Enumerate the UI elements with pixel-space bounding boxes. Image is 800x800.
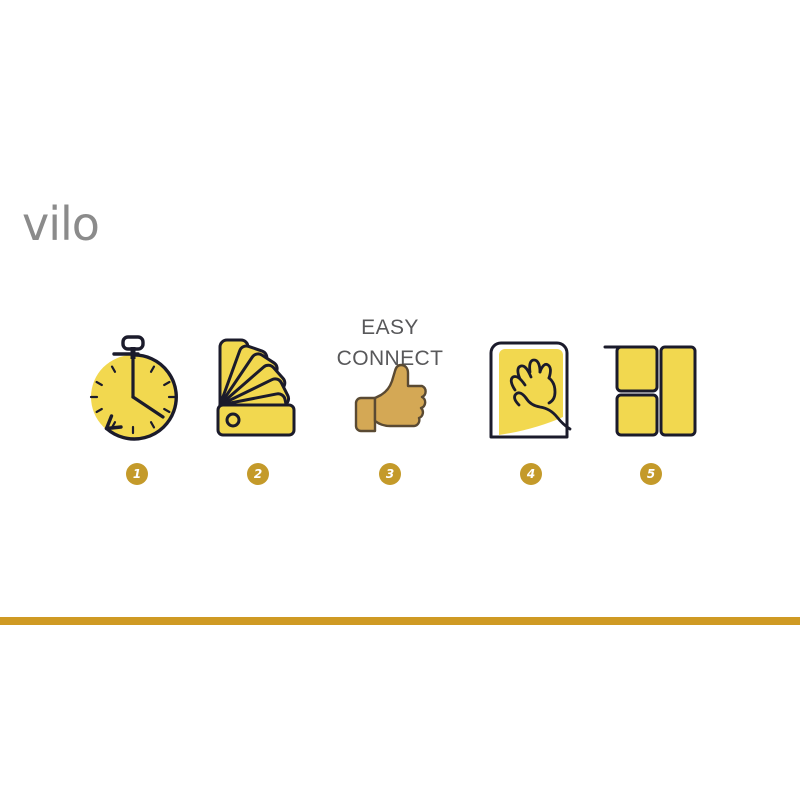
step-badge-4: 4	[520, 463, 542, 485]
stopwatch-icon	[72, 300, 202, 445]
step-item-1[interactable]: 1	[72, 300, 202, 510]
thumbs-up-icon	[325, 300, 455, 445]
hand-wiping-panel-icon	[466, 300, 596, 445]
step-item-3[interactable]: EASY CONNECT 3	[325, 300, 455, 510]
step-badge-1: 1	[126, 463, 148, 485]
step-item-2[interactable]: 2	[193, 300, 323, 510]
steps-row: 1 2 EASY CONN	[0, 300, 800, 510]
step-badge-3: 3	[379, 463, 401, 485]
panel-layout-icon	[586, 300, 716, 445]
bottom-accent-bar	[0, 617, 800, 625]
brand-wordmark: vilo	[22, 198, 99, 251]
color-swatch-fan-icon	[193, 300, 323, 445]
step-item-4[interactable]: 4	[466, 300, 596, 510]
brand-logo: vilo	[22, 198, 182, 254]
step-badge-2: 2	[247, 463, 269, 485]
step-item-5[interactable]: 5	[586, 300, 716, 510]
step-badge-5: 5	[640, 463, 662, 485]
